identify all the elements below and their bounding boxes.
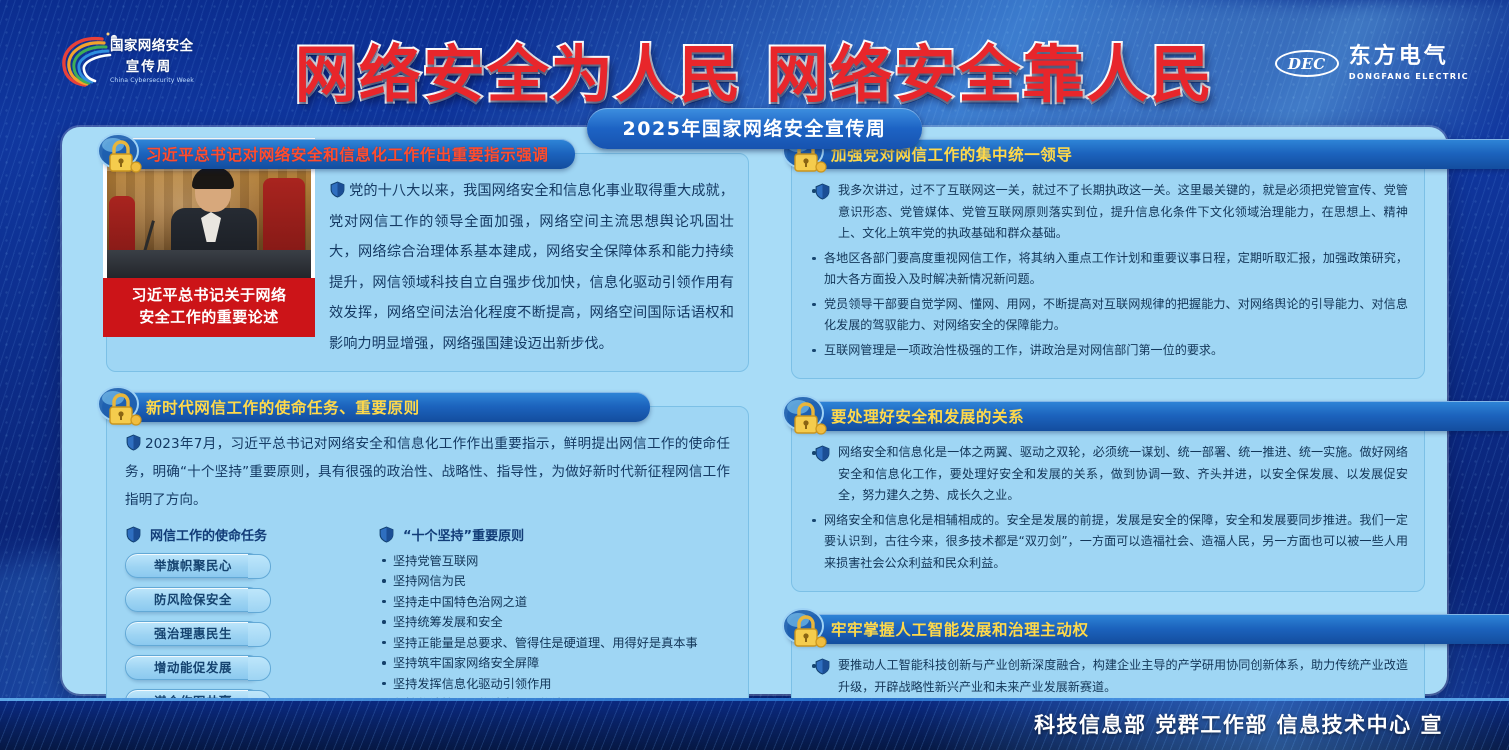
panel-header: 习近平总书记对网络安全和信息化工作作出重要指示强调 — [102, 139, 575, 169]
list-item: 坚持正能量是总要求、管得住是硬道理、用得好是真本事 — [378, 633, 730, 654]
panel-title: 习近平总书记对网络安全和信息化工作作出重要指示强调 — [102, 139, 575, 169]
panel-security-development: 要处理好安全和发展的关系 网络安全和信息化是一体之两翼、驱动之双轮，必须统一谋划… — [769, 415, 1425, 592]
left-column: 习近平总书记对网络安全和信息化工作作出重要指示强调 — [84, 153, 749, 674]
mission-pill[interactable]: 防风险保安全 — [125, 587, 261, 612]
dec-mark: DEC — [1275, 50, 1339, 77]
panel-bullet-list: 我多次讲过，过不了互联网这一关，就过不了长期执政这一关。这里最关键的，就是必须把… — [808, 180, 1408, 361]
list-item: 要推动人工智能科技创新与产业创新深度融合，构建企业主导的产学研用协同创新体系，助… — [808, 655, 1408, 698]
lock-shield-icon — [96, 131, 144, 175]
list-item: 网络安全和信息化是相辅相成的。安全是发展的前提，发展是安全的保障，安全和发展要同… — [808, 510, 1408, 575]
photo-caption-line2: 安全工作的重要论述 — [107, 307, 311, 329]
company-logo: DEC 东方电气 DONGFANG ELECTRIC — [1275, 46, 1469, 81]
panel-header: 新时代网信工作的使命任务、重要原则 — [102, 392, 650, 422]
panel-title: 要处理好安全和发展的关系 — [787, 401, 1509, 431]
lock-shield-icon — [781, 606, 829, 650]
mission-pill[interactable]: 举旗帜聚民心 — [125, 553, 261, 578]
list-item: 各地区各部门要高度重视网信工作，将其纳入重点工作计划和重要议事日程，定期听取汇报… — [808, 248, 1408, 291]
list-item: 互联网管理是一项政治性极强的工作，讲政治是对网信部门第一位的要求。 — [808, 340, 1408, 362]
list-item: 坚持党管互联网 — [378, 551, 730, 572]
list-item: 网络安全和信息化是一体之两翼、驱动之双轮，必须统一谋划、统一部署、统一推进、统一… — [808, 442, 1408, 507]
shield-bullet-icon — [814, 183, 831, 200]
company-name-cn: 东方电气 — [1349, 46, 1469, 68]
principles-subheading: “十个坚持”重要原则 — [378, 525, 730, 544]
list-item: 坚持发挥信息化驱动引领作用 — [378, 674, 730, 695]
panel-lead-paragraph: 2023年7月，习近平总书记对网络安全和信息化工作作出重要指示，鲜明提出网信工作… — [125, 431, 730, 515]
page-footer: 科技信息部 党群工作部 信息技术中心 宣 — [0, 698, 1509, 750]
shield-bullet-icon — [329, 181, 346, 198]
panel-body: 网络安全和信息化是一体之两翼、驱动之双轮，必须统一谋划、统一部署、统一推进、统一… — [791, 415, 1425, 592]
list-item: 坚持网信为民 — [378, 571, 730, 592]
shield-bullet-icon — [814, 658, 831, 675]
list-item: 坚持统筹发展和安全 — [378, 612, 730, 633]
panel-header: 牢牢掌握人工智能发展和治理主动权 — [787, 614, 1509, 644]
page-header: 国家网络安全 宣传周 China Cybersecurity Week 网络安全… — [0, 0, 1509, 112]
mission-pill[interactable]: 强治理惠民生 — [125, 621, 261, 646]
shield-bullet-icon — [378, 526, 395, 543]
shield-bullet-icon — [125, 526, 142, 543]
list-item: 坚持走中国特色治网之道 — [378, 592, 730, 613]
panel-party-leadership: 加强党对网信工作的集中统一领导 我多次讲过，过不了互联网这一关，就过不了长期执政… — [769, 153, 1425, 379]
panel-header: 要处理好安全和发展的关系 — [787, 401, 1509, 431]
footer-department-text: 科技信息部 党群工作部 信息技术中心 宣 — [1034, 709, 1443, 739]
panel-bullet-list: 网络安全和信息化是一体之两翼、驱动之双轮，必须统一谋划、统一部署、统一推进、统一… — [808, 442, 1408, 574]
mission-subheading: 网信工作的使命任务 — [125, 525, 360, 544]
company-name-en: DONGFANG ELECTRIC — [1349, 71, 1469, 81]
list-item: 我多次讲过，过不了互联网这一关，就过不了长期执政这一关。这里最关键的，就是必须把… — [808, 180, 1408, 245]
lock-shield-icon — [96, 384, 144, 428]
panel-title: 新时代网信工作的使命任务、重要原则 — [102, 392, 650, 422]
shield-bullet-icon — [814, 445, 831, 462]
panel-title: 牢牢掌握人工智能发展和治理主动权 — [787, 614, 1509, 644]
mission-pill-list: 举旗帜聚民心 防风险保安全 强治理惠民生 增动能促发展 谋合作图共赢 — [125, 551, 360, 714]
shield-bullet-icon — [125, 434, 142, 451]
mission-subheading-label: 网信工作的使命任务 — [150, 525, 267, 544]
list-item: 党员领导干部要自觉学网、懂网、用网，不断提高对互联网规律的把握能力、对网络舆论的… — [808, 294, 1408, 337]
lock-shield-icon — [781, 393, 829, 437]
panel-body: 习近平总书记关于网络 安全工作的重要论述 党的十八大以来，我国网络安全和信息化事… — [106, 153, 749, 372]
event-ribbon: 2025年国家网络安全宣传周 — [587, 108, 923, 149]
panel-paragraph: 党的十八大以来，我国网络安全和信息化事业取得重大成就，党对网信工作的领导全面加强… — [329, 176, 734, 359]
mission-pill[interactable]: 增动能促发展 — [125, 655, 261, 680]
photo-caption-line1: 习近平总书记关于网络 — [107, 285, 311, 307]
right-column: 加强党对网信工作的集中统一领导 我多次讲过，过不了互联网这一关，就过不了长期执政… — [769, 153, 1425, 674]
content-board: 习近平总书记对网络安全和信息化工作作出重要指示强调 — [62, 127, 1447, 694]
principles-subheading-label: “十个坚持”重要原则 — [403, 525, 524, 544]
panel-xi-directive: 习近平总书记对网络安全和信息化工作作出重要指示强调 — [84, 153, 749, 372]
list-item: 坚持筑牢国家网络安全屏障 — [378, 653, 730, 674]
photo-caption: 习近平总书记关于网络 安全工作的重要论述 — [103, 278, 315, 337]
panel-body: 我多次讲过，过不了互联网这一关，就过不了长期执政这一关。这里最关键的，就是必须把… — [791, 153, 1425, 379]
